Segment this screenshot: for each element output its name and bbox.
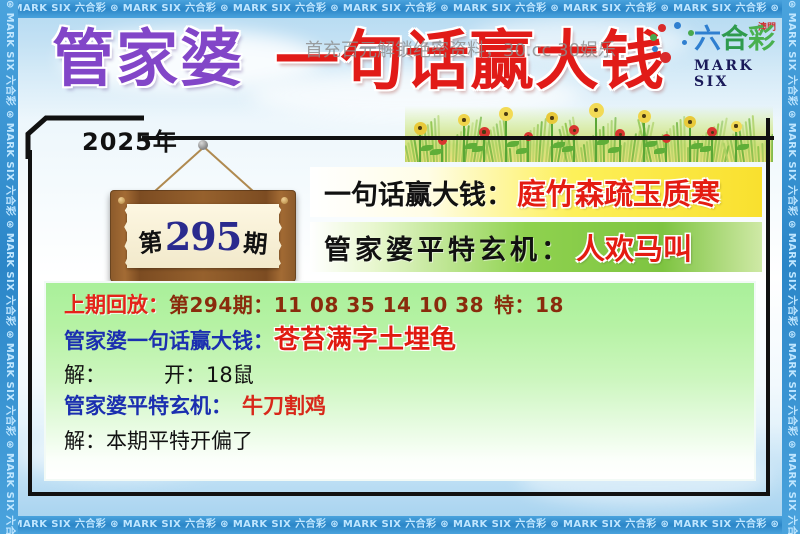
logo-dot-7-icon [660,52,671,63]
issue-prefix: 第 [136,221,164,258]
issue-number: 295 [165,214,241,259]
plaque-screw-right-icon [281,197,288,204]
review-special-number: 18 [535,293,564,317]
logo-char-3: 彩 [748,24,775,55]
review-open-label: 开： [164,363,206,387]
review-riddle-label: 管家婆一句话赢大钱： [64,329,274,353]
flower-bloom-icon [589,103,604,118]
review-line-answer: 解：开：18鼠 [64,363,754,388]
issue-suffix: 期 [242,223,269,260]
review-line-results: 上期回放：第294期：11 08 35 14 10 38特：18 [64,293,754,318]
review-line-pingte: 管家婆平特玄机：牛刀割鸡 [64,394,754,419]
logo-char-1: 六 [694,24,721,55]
highlight-value-1: 庭竹森疏玉质寒 [517,171,720,213]
plaque-rope-left-icon [154,146,204,192]
mark-six-logo: 澳門 六合彩 MARK SIX [648,18,778,80]
border-pattern-left-text: ⊛ MARK SIX 六合彩 ⊛ MARK SIX 六合彩 ⊛ MARK SIX… [0,0,18,534]
review-pingte-value: 牛刀割鸡 [242,394,326,418]
logo-name-en: MARK SIX [694,58,778,90]
border-pattern-right: ⊛ MARK SIX 六合彩 ⊛ MARK SIX 六合彩 ⊛ MARK SIX… [782,0,800,534]
poster-canvas: ⊛ MARK SIX 六合彩 ⊛ MARK SIX 六合彩 ⊛ MARK SIX… [0,0,800,534]
review-pingte-answer-label: 解： [64,429,106,453]
highlight-value-2: 人欢马叫 [576,226,692,268]
highlight-label-2: 管家婆平特玄机： [324,228,572,267]
logo-dot-4-icon [650,34,657,41]
highlight-label-1: 一句话赢大钱： [324,173,513,212]
review-riddle-value: 苍苔满字土埋龟 [274,325,456,355]
logo-dot-5-icon [682,40,687,45]
brand-title: 管家婆 [52,28,244,90]
review-line-pingte-answer: 解：本期平特开偏了 [64,429,754,454]
review-title: 上期回放： [64,293,169,317]
plaque-rope-right-icon [203,146,253,192]
logo-name-cn: 六合彩 [694,26,775,53]
issue-number-group: 第 295 期 [127,204,279,268]
review-pingte-answer-value: 本期平特开偏了 [106,429,253,453]
review-line-riddle: 管家婆一句话赢大钱：苍苔满字土埋龟 [64,325,754,356]
review-numbers: 11 08 35 14 10 38 [274,293,484,317]
review-special-label: 特： [494,293,535,317]
border-pattern-bottom: ⊛ MARK SIX 六合彩 ⊛ MARK SIX 六合彩 ⊛ MARK SIX… [0,516,800,534]
plaque-nail-icon [198,140,208,150]
plaque-screw-left-icon [118,197,125,204]
border-pattern-right-text: ⊛ MARK SIX 六合彩 ⊛ MARK SIX 六合彩 ⊛ MARK SIX… [782,0,800,534]
review-pingte-label: 管家婆平特玄机： [64,394,232,418]
previous-draw-panel: 上期回放：第294期：11 08 35 14 10 38特：18 管家婆一句话赢… [44,281,756,481]
highlight-row-yellow: 一句话赢大钱： 庭竹森疏玉质寒 [310,167,762,217]
logo-dot-6-icon [652,46,658,52]
highlight-row-green: 管家婆平特玄机： 人欢马叫 [310,222,762,272]
logo-char-2: 合 [721,24,748,55]
review-answer-label: 解： [64,363,106,387]
review-open-value: 18鼠 [206,363,254,387]
logo-dot-1-icon [658,24,666,32]
border-pattern-top: ⊛ MARK SIX 六合彩 ⊛ MARK SIX 六合彩 ⊛ MARK SIX… [0,0,800,18]
plaque-paper: 第 295 期 [127,204,279,268]
border-pattern-left: ⊛ MARK SIX 六合彩 ⊛ MARK SIX 六合彩 ⊛ MARK SIX… [0,0,18,534]
review-draw-label: 第294期： [169,293,274,317]
plaque-board: 第 295 期 [110,190,296,282]
logo-dot-2-icon [674,22,681,29]
watermark-text: 首充百元解锁绝密资料，30.cc 30娱乐 [305,36,616,62]
content-frame-left-edge [28,150,32,496]
hanging-plaque: 第 295 期 [95,140,310,285]
